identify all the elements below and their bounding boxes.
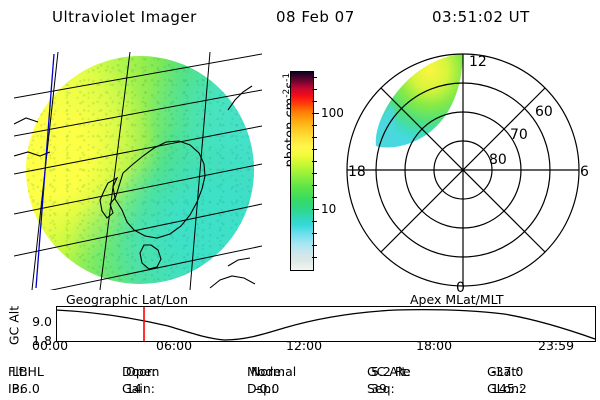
status-glon: GLon: 145.2 <box>487 381 491 396</box>
longitude-gridlines <box>32 52 210 290</box>
status-dsp: Dsp: -0.0 <box>247 381 255 396</box>
status-gcalt: GC Alt: 5.2 Re <box>367 364 371 379</box>
auroral-emission-patch <box>376 54 463 147</box>
mlat-label-60: 60 <box>535 104 553 120</box>
status-seq: Seq: 39 <box>367 381 371 396</box>
uvi-summary-page: Ultraviolet Imager 08 Feb 07 03:51:02 UT <box>0 0 600 400</box>
status-door: Door: Open <box>122 364 126 379</box>
instrument-title: Ultraviolet Imager <box>52 8 197 26</box>
orbit-y-tick-high: 9.0 <box>32 314 52 329</box>
time-tick-2359: 23:59 <box>538 338 574 353</box>
geographic-disk-panel <box>14 52 262 290</box>
apex-polar-panel: 12 6 0 18 60 70 80 <box>332 46 594 294</box>
coastline-overlay <box>14 86 255 288</box>
mlt-label-18: 18 <box>348 164 366 180</box>
terminator-line <box>36 54 54 288</box>
status-gain: Gain: 14 <box>122 381 126 396</box>
mlt-label-12: 12 <box>469 54 487 70</box>
time-tick-1200: 12:00 <box>286 338 322 353</box>
status-glat: GLat: -37.0 <box>487 364 491 379</box>
polar-dial: 12 6 0 18 60 70 80 <box>332 46 594 294</box>
orbit-altitude-chart <box>56 306 596 342</box>
right-panel-caption: Apex MLat/MLT <box>410 292 504 307</box>
status-ip: IP: 36.0 <box>8 381 12 396</box>
observation-date: 08 Feb 07 <box>276 8 355 26</box>
time-tick-0000: 00:00 <box>32 338 68 353</box>
altitude-trace <box>56 310 595 340</box>
disk-overlay <box>14 52 262 290</box>
time-tick-1800: 18:00 <box>416 338 452 353</box>
mlat-label-70: 70 <box>510 127 528 143</box>
colorbar-gradient <box>290 71 314 271</box>
status-flt: Flt: LBHL <box>8 364 12 379</box>
header: Ultraviolet Imager 08 Feb 07 03:51:02 UT <box>0 8 600 32</box>
mlt-label-6: 6 <box>580 164 589 180</box>
time-tick-0600: 06:00 <box>156 338 192 353</box>
observation-time: 03:51:02 UT <box>432 8 530 26</box>
left-panel-caption: Geographic Lat/Lon <box>66 292 188 307</box>
mlat-label-80: 80 <box>489 152 507 168</box>
mlt-spokes <box>347 54 579 286</box>
orbit-altitude-panel: Geographic Lat/Lon Apex MLat/MLT GC Alt … <box>0 292 600 356</box>
orbit-y-axis-label: GC Alt <box>7 298 22 354</box>
status-mode: Mode: Normal <box>247 364 251 379</box>
status-bar: Flt: LBHL IP: 36.0 Door: Open Gain: 14 M… <box>0 364 600 400</box>
